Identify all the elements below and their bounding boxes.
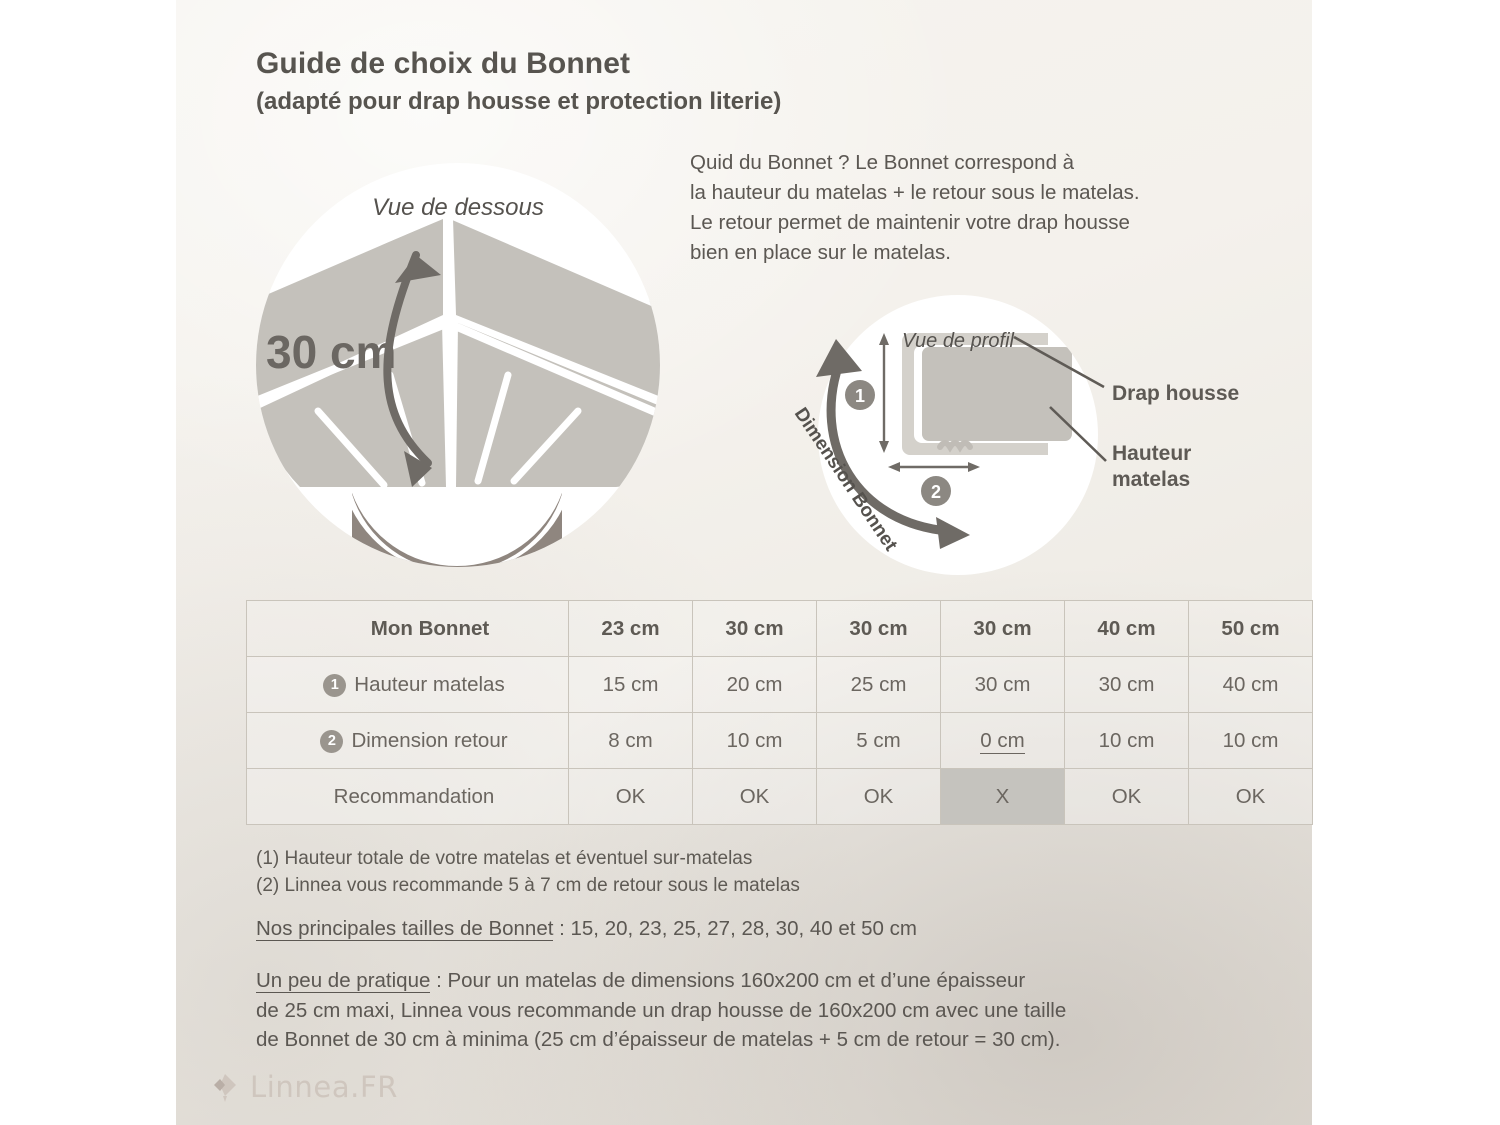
- table-cell: 5 cm: [817, 713, 941, 769]
- table-cell: OK: [1189, 769, 1313, 825]
- table-cell: OK: [817, 769, 941, 825]
- intro-line-4: bien en place sur le matelas.: [690, 238, 1260, 268]
- title-main: Guide de choix du Bonnet: [256, 46, 1016, 83]
- table-cell: 40 cm: [1189, 657, 1313, 713]
- brand-logo[interactable]: Linnea.FR: [212, 1070, 398, 1104]
- footnote-2: (2) Linnea vous recommande 5 à 7 cm de r…: [256, 873, 1156, 900]
- table-cell: OK: [1065, 769, 1189, 825]
- table-row-label-text: Dimension retour: [351, 729, 507, 752]
- table-cell: 10 cm: [1065, 713, 1189, 769]
- profile-view-diagram: Vue de profil 1 2 Dimension: [818, 295, 1098, 575]
- table-cell: 30 cm: [1065, 657, 1189, 713]
- row-badge-2: 2: [320, 730, 343, 753]
- table-row: 2Dimension retour8 cm10 cm5 cm0 cm10 cm1…: [247, 713, 1313, 769]
- table-row-label-text: Mon Bonnet: [371, 617, 489, 640]
- callout-hauteur-line1: Hauteur: [1112, 441, 1191, 467]
- table-cell: OK: [693, 769, 817, 825]
- principal-sizes-label: Nos principales tailles de Bonnet: [256, 917, 553, 941]
- table-row: RecommandationOKOKOKXOKOK: [247, 769, 1313, 825]
- principal-sizes-values: : 15, 20, 23, 25, 27, 28, 30, 40 et 50 c…: [553, 917, 917, 940]
- bottom-view-caption: Vue de dessous: [372, 194, 544, 221]
- table-cell: 30 cm: [817, 601, 941, 657]
- table-cell: 40 cm: [1065, 601, 1189, 657]
- table-cell: 10 cm: [1189, 713, 1313, 769]
- practice-line-1: : Pour un matelas de dimensions 160x200 …: [430, 969, 1025, 992]
- linnea-logo-text: Linnea.FR: [250, 1070, 398, 1104]
- highlighted-value: 0 cm: [980, 729, 1024, 754]
- row-badge-1: 1: [323, 674, 346, 697]
- table-cell: 25 cm: [817, 657, 941, 713]
- intro-paragraph: Quid du Bonnet ? Le Bonnet correspond à …: [690, 148, 1260, 269]
- footnote-1: (1) Hauteur totale de votre matelas et é…: [256, 846, 1156, 873]
- intro-line-2: la hauteur du matelas + le retour sous l…: [690, 178, 1260, 208]
- table-cell: 30 cm: [941, 657, 1065, 713]
- table-cell: 10 cm: [693, 713, 817, 769]
- table-cell: 8 cm: [569, 713, 693, 769]
- principal-sizes-line: Nos principales tailles de Bonnet : 15, …: [256, 917, 917, 941]
- bonnet-guide-table: Mon Bonnet23 cm30 cm30 cm30 cm40 cm50 cm…: [246, 600, 1246, 825]
- intro-line-3: Le retour permet de maintenir votre drap…: [690, 208, 1260, 238]
- callout-hauteur-line2: matelas: [1112, 467, 1191, 493]
- poster-canvas: Guide de choix du Bonnet (adapté pour dr…: [0, 0, 1500, 1125]
- table-row-label: Recommandation: [247, 769, 569, 825]
- table-row-label: Mon Bonnet: [247, 601, 569, 657]
- table-cell: 0 cm: [941, 713, 1065, 769]
- svg-text:1: 1: [855, 386, 865, 406]
- footnotes: (1) Hauteur totale de votre matelas et é…: [256, 846, 1156, 900]
- callout-drap-housse: Drap housse: [1112, 381, 1239, 407]
- table-cell: 30 cm: [693, 601, 817, 657]
- diagram-badge-2: 2: [921, 476, 951, 506]
- svg-text:2: 2: [931, 482, 941, 502]
- intro-line-1: Quid du Bonnet ? Le Bonnet correspond à: [690, 148, 1260, 178]
- table-cell: 15 cm: [569, 657, 693, 713]
- measure-label-30cm: 30 cm: [266, 326, 396, 378]
- table-cell: 23 cm: [569, 601, 693, 657]
- table-row-label: 2Dimension retour: [247, 713, 569, 769]
- linnea-leaf-icon: [212, 1072, 238, 1102]
- table-cell: 30 cm: [941, 601, 1065, 657]
- diagram-badge-1: 1: [845, 380, 875, 410]
- table-row: 1Hauteur matelas15 cm20 cm25 cm30 cm30 c…: [247, 657, 1313, 713]
- table-row: Mon Bonnet23 cm30 cm30 cm30 cm40 cm50 cm: [247, 601, 1313, 657]
- table-cell: 50 cm: [1189, 601, 1313, 657]
- table-row-label: 1Hauteur matelas: [247, 657, 569, 713]
- table-cell: X: [941, 769, 1065, 825]
- callout-hauteur-matelas: Hauteur matelas: [1112, 441, 1191, 493]
- practice-line-3: de Bonnet de 30 cm à minima (25 cm d’épa…: [256, 1025, 1256, 1055]
- profile-view-caption: Vue de profil: [902, 330, 1014, 352]
- practice-line-2: de 25 cm maxi, Linnea vous recommande un…: [256, 996, 1256, 1026]
- table-row-label-text: Hauteur matelas: [354, 673, 504, 696]
- title-subtitle: (adapté pour drap housse et protection l…: [256, 86, 1016, 117]
- practice-label: Un peu de pratique: [256, 969, 430, 993]
- table-cell: OK: [569, 769, 693, 825]
- table-cell: 20 cm: [693, 657, 817, 713]
- table-row-label-text: Recommandation: [334, 785, 495, 808]
- bottom-view-diagram: Vue de dessous 30 cm: [256, 163, 660, 567]
- practice-paragraph: Un peu de pratique : Pour un matelas de …: [256, 966, 1256, 1055]
- page-title: Guide de choix du Bonnet (adapté pour dr…: [256, 46, 1016, 117]
